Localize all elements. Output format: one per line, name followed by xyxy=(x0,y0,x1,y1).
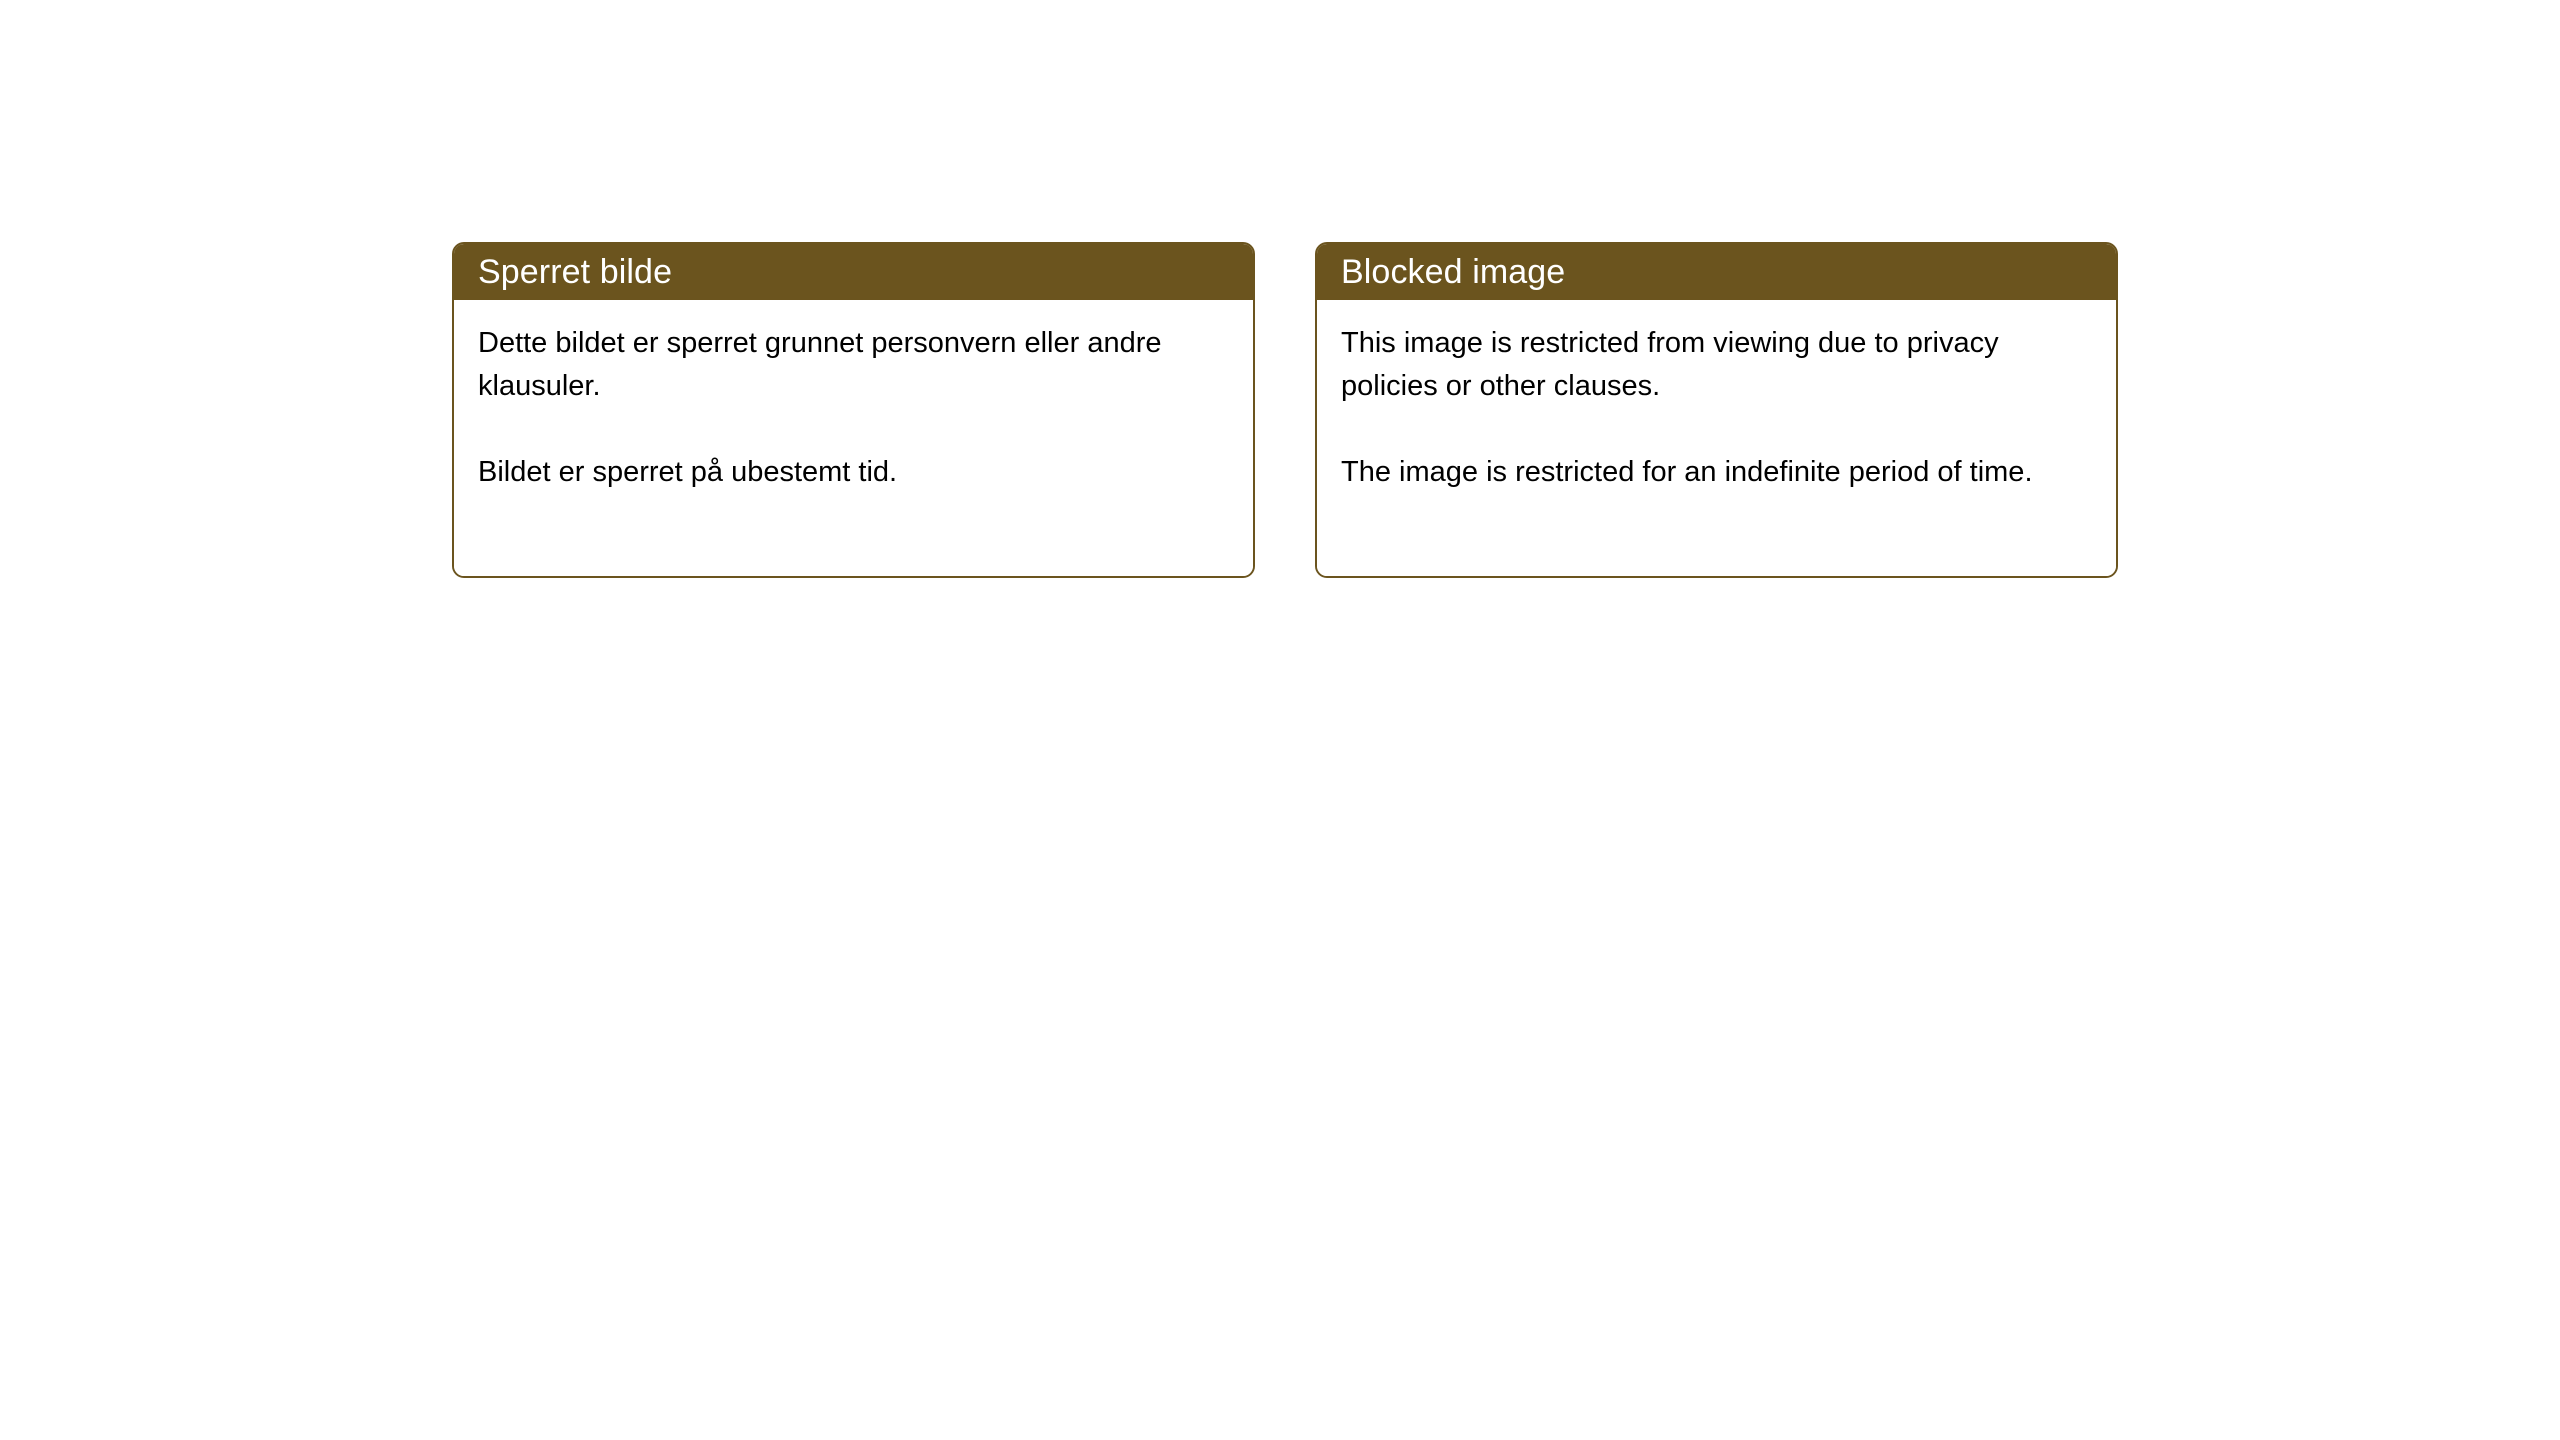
card-title-norwegian: Sperret bilde xyxy=(478,252,672,292)
card-header-english: Blocked image xyxy=(1317,244,2116,300)
card-body-english: This image is restricted from viewing du… xyxy=(1317,300,2116,576)
card-title-english: Blocked image xyxy=(1341,252,1565,292)
card-body-norwegian: Dette bildet er sperret grunnet personve… xyxy=(454,300,1253,576)
card-paragraph-duration-norwegian: Bildet er sperret på ubestemt tid. xyxy=(478,451,1227,494)
blocked-image-card-english: Blocked image This image is restricted f… xyxy=(1315,242,2118,578)
card-paragraph-reason-norwegian: Dette bildet er sperret grunnet personve… xyxy=(478,322,1227,408)
page-canvas: Sperret bilde Dette bildet er sperret gr… xyxy=(0,0,2560,1440)
card-paragraph-reason-english: This image is restricted from viewing du… xyxy=(1341,322,2090,408)
blocked-image-card-norwegian: Sperret bilde Dette bildet er sperret gr… xyxy=(452,242,1255,578)
blocked-image-notice-group: Sperret bilde Dette bildet er sperret gr… xyxy=(452,242,2118,578)
card-header-norwegian: Sperret bilde xyxy=(454,244,1253,300)
card-paragraph-duration-english: The image is restricted for an indefinit… xyxy=(1341,451,2090,494)
